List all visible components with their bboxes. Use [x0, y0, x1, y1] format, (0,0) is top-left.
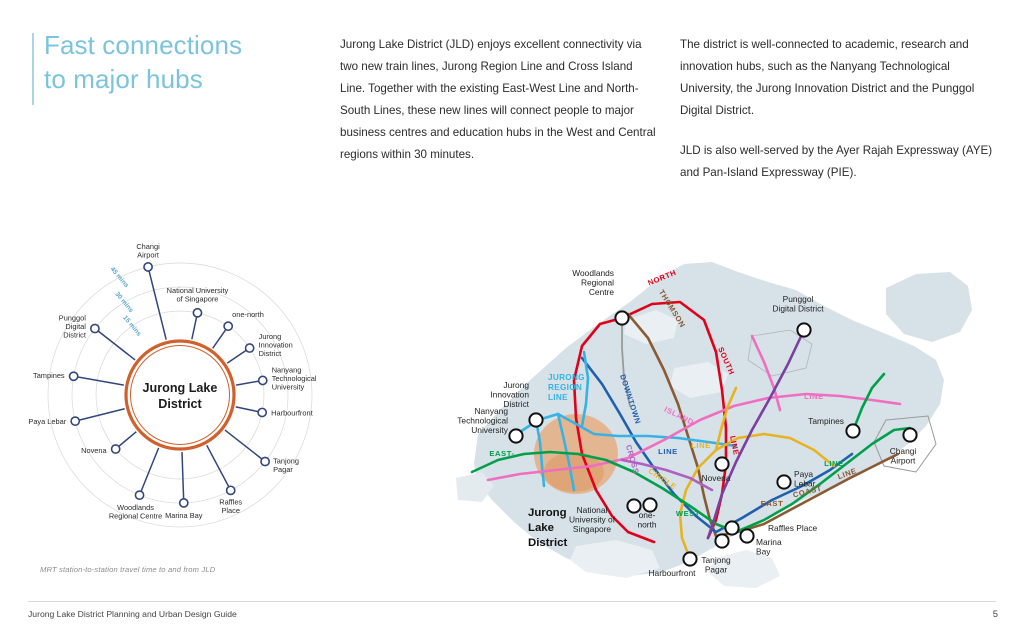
radial-node-label: Tampines — [33, 371, 65, 380]
footer-divider — [28, 601, 996, 602]
radial-spoke — [182, 452, 184, 503]
radial-node-marker — [261, 457, 269, 465]
radial-ring-labels: 15 mins30 mins45 mins — [109, 266, 143, 338]
radial-node-label: Paya Lebar — [28, 417, 66, 426]
radial-spoke — [74, 376, 124, 385]
ring-time-label: 45 mins — [109, 266, 130, 290]
page-heading-block: Fast connections to major hubs — [32, 28, 322, 96]
page-title: Fast connections to major hubs — [32, 28, 322, 96]
radial-node-label: Harbourfront — [271, 408, 313, 417]
radial-node[interactable]: WoodlandsRegional Centre — [109, 491, 162, 521]
map-station-label: Airport — [891, 455, 916, 465]
map-station-marker — [797, 323, 810, 336]
radial-node-marker — [224, 322, 232, 330]
map-station-label: Pagar — [705, 564, 728, 574]
radial-node-label: Airport — [137, 251, 159, 260]
radial-node-label: Novena — [81, 446, 107, 455]
radial-node-marker — [227, 486, 235, 494]
radial-node-marker — [135, 491, 143, 499]
page-title-line-1: Fast connections — [44, 28, 322, 62]
body-paragraph: The district is well-connected to academ… — [680, 34, 998, 122]
map-station-marker — [627, 499, 640, 512]
radial-node[interactable]: JurongInnovationDistrict — [246, 332, 293, 358]
radial-node[interactable]: TanjongPagar — [261, 456, 299, 474]
singapore-rail-map: JURONG REGION LINE NORTHSOUTHLINETHOMSON… — [372, 228, 1020, 596]
map-station-marker — [903, 428, 916, 441]
radial-node-label: one-north — [232, 310, 264, 319]
radial-node-marker — [70, 372, 78, 380]
map-station-marker — [615, 311, 628, 324]
map-station-label: north — [637, 519, 656, 529]
body-column-2: The district is well-connected to academ… — [680, 34, 998, 184]
radial-node[interactable]: ChangiAirport — [136, 242, 160, 271]
radial-node[interactable]: Tampines — [33, 371, 78, 380]
map-station-marker — [846, 424, 859, 437]
map-station-marker — [509, 429, 522, 442]
radial-node-label: Regional Centre — [109, 512, 162, 521]
radial-node[interactable]: Novena — [81, 445, 120, 455]
radial-spoke — [140, 448, 159, 495]
ring-time-label: 15 mins — [121, 314, 142, 338]
radial-node-marker — [246, 344, 254, 352]
map-station-label: Digital District — [772, 303, 824, 313]
radial-spoke — [225, 430, 265, 461]
radial-node-marker — [180, 499, 188, 507]
radial-node-label: of Singapore — [177, 294, 219, 303]
map-line-label: LINE — [804, 392, 824, 401]
radial-node-marker — [71, 417, 79, 425]
map-station-label: Raffles Place — [768, 523, 818, 533]
radial-node-label: District — [63, 331, 86, 340]
radial-node[interactable]: RafflesPlace — [219, 486, 242, 515]
radial-spoke — [207, 445, 231, 490]
center-ring-outer — [126, 341, 234, 449]
body-paragraph: JLD is also well-served by the Ayer Raja… — [680, 140, 998, 184]
rail-map-svg: JURONG REGION LINE NORTHSOUTHLINETHOMSON… — [372, 228, 1020, 596]
map-station-marker — [740, 529, 753, 542]
radial-node-label: University — [272, 383, 305, 392]
jrl-label-line-2: REGION — [548, 383, 582, 392]
page-root: Fast connections to major hubs Jurong La… — [0, 0, 1024, 640]
map-line-label: EAST- — [489, 449, 514, 458]
map-station-label: Tampines — [808, 416, 844, 426]
map-station-label: Singapore — [573, 524, 612, 534]
radial-travel-time-diagram: 15 mins30 mins45 mins Jurong Lake Distri… — [22, 232, 342, 582]
jrl-label-line-1: JURONG — [548, 373, 585, 382]
radial-node[interactable]: PunggolDigitalDistrict — [59, 314, 99, 340]
radial-node[interactable]: NanyangTechnologicalUniversity — [259, 365, 317, 391]
center-label-line-2: District — [158, 397, 202, 411]
radial-node-marker — [144, 263, 152, 271]
map-station-label: Bay — [756, 546, 771, 556]
radial-node-marker — [259, 376, 267, 384]
radial-node-label: Place — [221, 506, 240, 515]
footer-title: Jurong Lake District Planning and Urban … — [28, 609, 237, 619]
radial-node-marker — [112, 445, 120, 453]
map-station-label: Lebar — [794, 478, 816, 488]
radial-node-marker — [91, 324, 99, 332]
center-label-line-1: Jurong Lake — [143, 381, 218, 395]
radial-node-label: Marina Bay — [165, 511, 203, 520]
map-station[interactable]: WoodlandsRegionalCentre — [572, 268, 628, 325]
page-title-line-2: to major hubs — [44, 62, 322, 96]
map-station-label: Novena — [702, 473, 731, 483]
radial-spoke — [95, 329, 135, 360]
map-line-label: LINE — [691, 441, 711, 450]
map-station-label: University — [471, 425, 509, 435]
map-line-label: WEST — [676, 509, 700, 518]
radial-diagram-svg: 15 mins30 mins45 mins Jurong Lake Distri… — [22, 232, 342, 582]
body-paragraph: Jurong Lake District (JLD) enjoys excell… — [340, 34, 660, 166]
map-station-label: Harbourfront — [648, 568, 696, 578]
radial-node[interactable]: Harbourfront — [258, 408, 313, 417]
footer-page-number: 5 — [993, 608, 998, 619]
map-station-label: District — [503, 399, 529, 409]
offshore-island-east — [886, 272, 972, 342]
map-station-marker — [529, 413, 542, 426]
radial-node[interactable]: National Universityof Singapore — [167, 286, 229, 317]
map-line-label: LINE — [658, 447, 678, 456]
radial-spoke — [148, 267, 166, 340]
radial-node-marker — [258, 408, 266, 416]
radial-node-marker — [193, 309, 201, 317]
radial-diagram-caption: MRT station-to-station travel time to an… — [40, 565, 215, 574]
radial-node-label: District — [259, 349, 282, 358]
heading-accent-rule — [32, 33, 34, 105]
map-station-marker — [777, 475, 790, 488]
radial-node[interactable]: Marina Bay — [165, 499, 203, 520]
map-station-marker — [715, 534, 728, 547]
radial-spoke — [75, 409, 124, 421]
map-station-marker — [683, 552, 696, 565]
body-column-1: Jurong Lake District (JLD) enjoys excell… — [340, 34, 660, 166]
jld-label-line-2: Lake — [528, 522, 554, 534]
map-station-label: Centre — [589, 287, 614, 297]
jld-label-line-3: District — [528, 537, 567, 549]
radial-node-label: Pagar — [273, 465, 293, 474]
map-line-label: LINE — [824, 459, 844, 468]
ring-time-label: 30 mins — [113, 291, 134, 315]
jrl-label-line-3: LINE — [548, 393, 568, 402]
map-station-marker — [725, 521, 738, 534]
map-line-label: EAST — [761, 499, 784, 508]
jld-label-line-1: Jurong — [528, 507, 567, 519]
radial-node[interactable]: Paya Lebar — [28, 417, 79, 426]
map-station-marker — [715, 457, 728, 470]
